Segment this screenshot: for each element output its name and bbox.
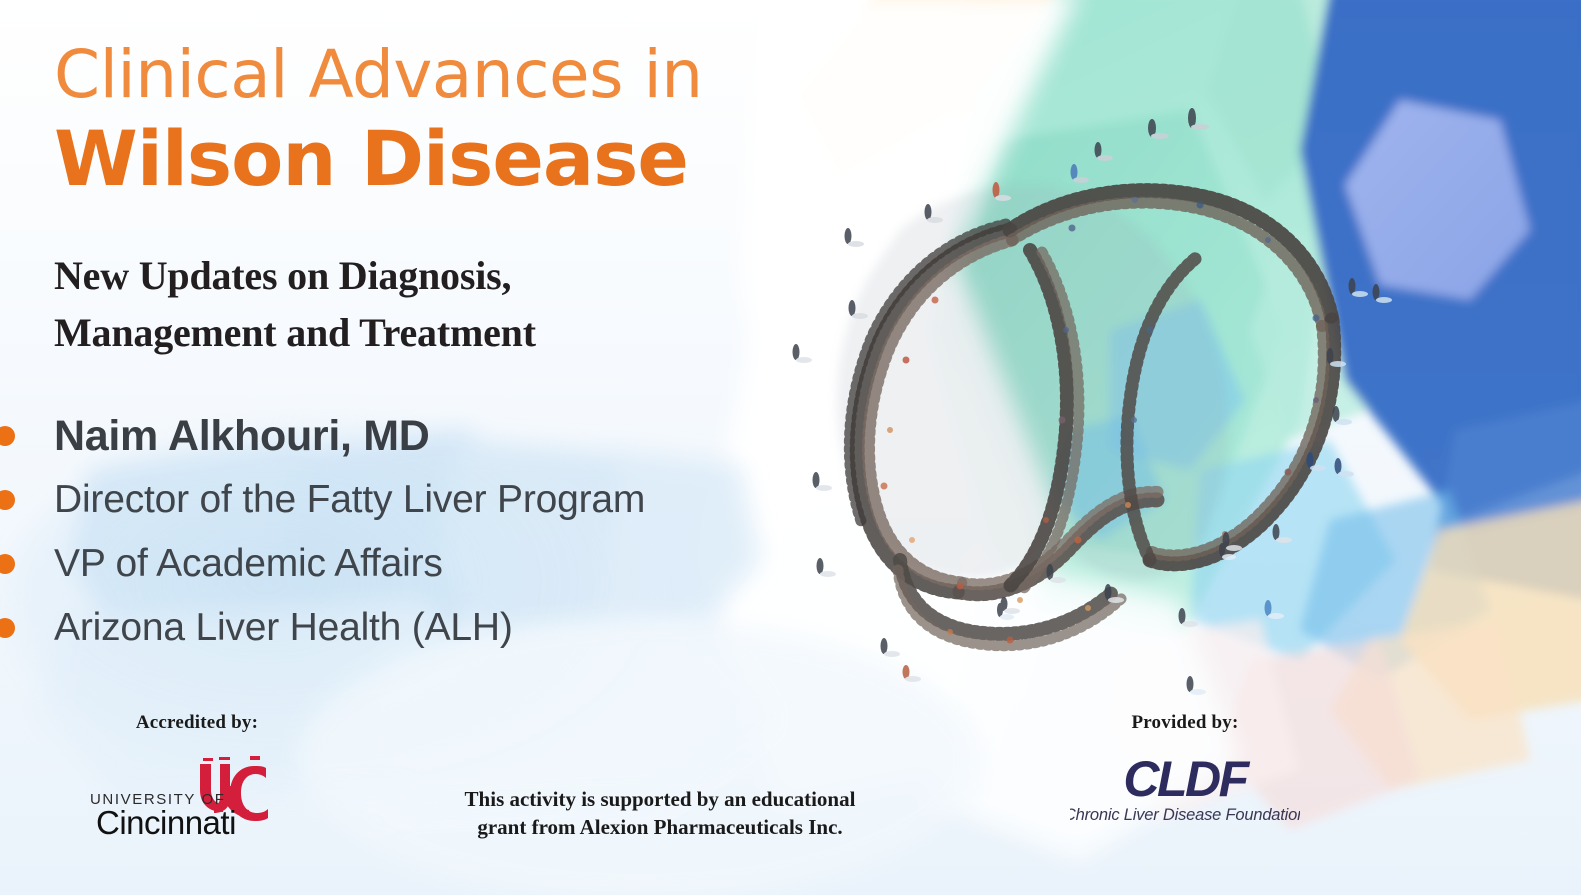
presentation-slide: Clinical Advances in Wilson Disease New … bbox=[0, 0, 1581, 895]
presenter-list: Naim Alkhouri, MD Director of the Fatty … bbox=[0, 404, 800, 660]
cldf-tagline-text: Chronic Liver Disease Foundation bbox=[1070, 806, 1300, 824]
list-item: Arizona Liver Health (ALH) bbox=[0, 596, 800, 660]
grant-support-text: This activity is supported by an educati… bbox=[440, 786, 880, 841]
accredited-by-label: Accredited by: bbox=[52, 712, 342, 734]
provided-by-label: Provided by: bbox=[1060, 712, 1310, 734]
support-text-line-1: This activity is supported by an educati… bbox=[440, 786, 880, 814]
title-line-2: Wilson Disease bbox=[54, 116, 754, 201]
bullet-dot-icon bbox=[0, 490, 15, 510]
uc-cincinnati-text: Cincinnati bbox=[96, 804, 236, 838]
slide-subtitle: New Updates on Diagnosis, Management and… bbox=[54, 248, 714, 362]
bullet-dot-icon bbox=[0, 554, 15, 574]
list-item: Naim Alkhouri, MD bbox=[0, 404, 800, 468]
presenter-affiliation: Arizona Liver Health (ALH) bbox=[54, 606, 513, 650]
bullet-dot-icon bbox=[0, 426, 15, 446]
accreditation-block: Accredited by: UNIVERSITY OF Cincin bbox=[52, 712, 342, 838]
cldf-acronym-text: CLDF bbox=[1123, 751, 1250, 807]
presenter-name: Naim Alkhouri, MD bbox=[54, 412, 430, 461]
list-item: Director of the Fatty Liver Program bbox=[0, 468, 800, 532]
bullet-dot-icon bbox=[0, 618, 15, 638]
support-text-line-2: grant from Alexion Pharmaceuticals Inc. bbox=[440, 814, 880, 842]
provider-block: Provided by: CLDF Chronic Liver Disease … bbox=[1060, 712, 1310, 832]
list-item: VP of Academic Affairs bbox=[0, 532, 800, 596]
presenter-role-2: VP of Academic Affairs bbox=[54, 542, 443, 586]
presenter-role-1: Director of the Fatty Liver Program bbox=[54, 478, 645, 522]
university-of-cincinnati-logo: UNIVERSITY OF Cincinnati bbox=[82, 742, 312, 838]
cldf-logo: CLDF Chronic Liver Disease Foundation bbox=[1070, 748, 1300, 832]
title-line-1: Clinical Advances in bbox=[54, 42, 754, 108]
slide-title: Clinical Advances in Wilson Disease bbox=[54, 42, 754, 201]
